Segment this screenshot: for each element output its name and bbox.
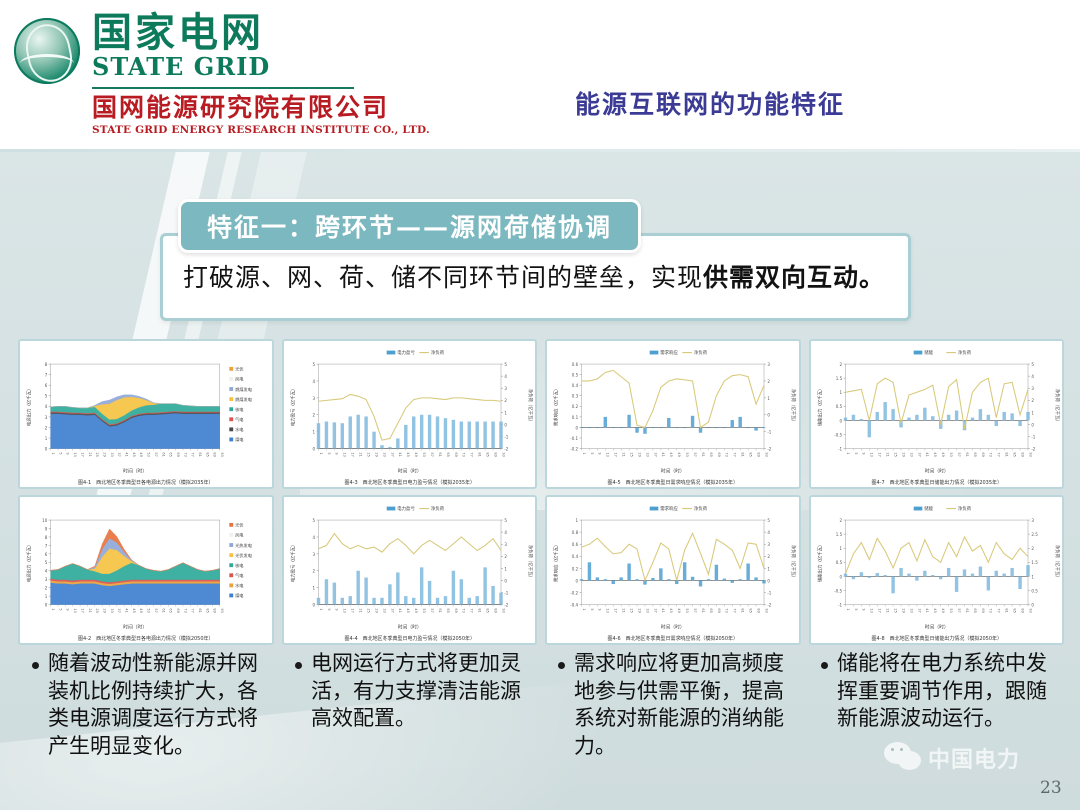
svg-text:1: 1 <box>839 390 842 395</box>
svg-text:5: 5 <box>45 394 48 399</box>
svg-text:33: 33 <box>645 608 649 612</box>
bullet-list: 随着波动性新能源并网装机比例持续扩大，各类电源调度运行方式将产生明显变化。 电网… <box>20 650 1068 800</box>
svg-text:0.3: 0.3 <box>572 394 579 399</box>
svg-text:9: 9 <box>861 452 865 454</box>
svg-text:29: 29 <box>374 608 378 612</box>
svg-text:煤电: 煤电 <box>235 592 244 599</box>
svg-text:73: 73 <box>461 452 465 456</box>
svg-text:69: 69 <box>717 608 721 612</box>
svg-text:73: 73 <box>461 608 465 612</box>
svg-text:2: 2 <box>767 554 770 559</box>
svg-text:49: 49 <box>677 452 681 456</box>
watermark-label: 中国电力 <box>928 742 1020 774</box>
svg-text:1: 1 <box>318 452 322 454</box>
svg-text:61: 61 <box>701 452 705 456</box>
svg-text:5: 5 <box>312 518 315 523</box>
svg-text:49: 49 <box>139 608 143 612</box>
svg-text:0: 0 <box>767 578 770 583</box>
svg-text:57: 57 <box>429 452 433 456</box>
svg-text:1: 1 <box>318 608 322 610</box>
svg-text:25: 25 <box>366 608 370 612</box>
svg-text:2.5: 2.5 <box>1031 532 1038 537</box>
feature-title-label: 特征一：跨环节——源网荷储协调 <box>207 208 612 244</box>
svg-text:53: 53 <box>147 608 151 612</box>
svg-text:49: 49 <box>414 608 418 612</box>
svg-text:89: 89 <box>756 452 760 456</box>
svg-text:21: 21 <box>88 452 92 456</box>
svg-text:37: 37 <box>917 608 921 612</box>
svg-text:69: 69 <box>717 452 721 456</box>
svg-text:29: 29 <box>901 608 905 612</box>
svg-text:3: 3 <box>504 542 507 547</box>
svg-text:2: 2 <box>504 554 507 559</box>
svg-text:21: 21 <box>885 452 889 456</box>
svg-text:净负荷: 净负荷 <box>957 505 971 512</box>
chart-svg: 012345-2-1012345电力盈亏净负荷15913172125293337… <box>284 497 536 643</box>
svg-text:1: 1 <box>45 594 48 599</box>
chart-svg: -0.2-0.100.10.20.30.40.50.6-2-10123需求响应净… <box>547 341 799 487</box>
svg-text:净负荷（亿千瓦）: 净负荷（亿千瓦） <box>1053 389 1060 424</box>
svg-text:时间（时）: 时间（时） <box>123 468 147 475</box>
svg-text:41: 41 <box>925 608 929 612</box>
svg-text:5: 5 <box>590 452 594 454</box>
svg-text:9: 9 <box>598 452 602 454</box>
svg-text:0: 0 <box>504 422 507 427</box>
svg-text:77: 77 <box>996 608 1000 612</box>
svg-text:37: 37 <box>117 608 121 612</box>
svg-text:气电: 气电 <box>235 416 244 422</box>
svg-text:-2: -2 <box>767 603 771 608</box>
svg-text:-1: -1 <box>1031 434 1035 439</box>
svg-text:1: 1 <box>767 396 770 401</box>
svg-text:85: 85 <box>485 452 489 456</box>
svg-text:61: 61 <box>437 452 441 456</box>
svg-text:3: 3 <box>312 552 315 557</box>
svg-text:73: 73 <box>988 452 992 456</box>
svg-text:2: 2 <box>839 518 842 523</box>
svg-text:57: 57 <box>693 452 697 456</box>
svg-text:0.6: 0.6 <box>572 542 579 547</box>
svg-text:81: 81 <box>1004 608 1008 612</box>
svg-text:0: 0 <box>1031 603 1034 608</box>
svg-text:61: 61 <box>701 608 705 612</box>
svg-text:1: 1 <box>51 452 55 454</box>
svg-text:3: 3 <box>1031 518 1034 523</box>
svg-text:25: 25 <box>629 608 633 612</box>
svg-text:5: 5 <box>58 608 62 610</box>
svg-text:1: 1 <box>312 430 315 435</box>
svg-text:4: 4 <box>45 404 48 409</box>
svg-text:33: 33 <box>382 608 386 612</box>
svg-text:净负荷（亿千瓦）: 净负荷（亿千瓦） <box>790 389 797 424</box>
svg-text:29: 29 <box>637 452 641 456</box>
chart-svg: -1-0.500.511.52-2-1012345储能净负荷1591317212… <box>811 341 1063 487</box>
svg-text:21: 21 <box>622 608 626 612</box>
svg-text:1: 1 <box>312 586 315 591</box>
svg-text:41: 41 <box>925 452 929 456</box>
svg-text:93: 93 <box>220 608 224 612</box>
chart-card-fig-4-8[interactable]: -1-0.500.511.5200.511.522.53储能净负荷1591317… <box>809 495 1065 645</box>
svg-text:0: 0 <box>576 425 579 430</box>
svg-text:57: 57 <box>693 608 697 612</box>
svg-text:13: 13 <box>869 608 873 612</box>
svg-text:0: 0 <box>576 578 579 583</box>
bullet-item: 随着波动性新能源并网装机比例持续扩大，各类电源调度运行方式将产生明显变化。 <box>20 650 279 800</box>
svg-text:0: 0 <box>839 418 842 423</box>
svg-text:5: 5 <box>590 608 594 610</box>
svg-text:29: 29 <box>102 452 106 456</box>
svg-text:61: 61 <box>161 608 165 612</box>
svg-text:45: 45 <box>132 608 136 612</box>
svg-text:53: 53 <box>685 608 689 612</box>
svg-text:13: 13 <box>342 608 346 612</box>
svg-text:93: 93 <box>1028 608 1032 612</box>
svg-text:时间（时）: 时间（时） <box>123 624 147 631</box>
svg-text:8: 8 <box>45 535 48 540</box>
svg-text:电力盈亏: 电力盈亏 <box>397 505 415 512</box>
svg-text:净负荷: 净负荷 <box>694 349 708 356</box>
svg-text:9: 9 <box>66 452 70 454</box>
svg-text:-0.4: -0.4 <box>570 603 578 608</box>
svg-text:电源出力（亿千瓦）: 电源出力（亿千瓦） <box>25 542 32 582</box>
svg-text:81: 81 <box>477 608 481 612</box>
svg-text:5: 5 <box>326 608 330 610</box>
svg-text:37: 37 <box>917 452 921 456</box>
svg-text:-0.5: -0.5 <box>834 588 842 593</box>
svg-text:需求响应（亿千瓦）: 需求响应（亿千瓦） <box>552 542 559 582</box>
svg-text:净负荷（亿千瓦）: 净负荷（亿千瓦） <box>526 545 533 580</box>
svg-text:21: 21 <box>358 608 362 612</box>
svg-text:49: 49 <box>414 452 418 456</box>
svg-text:69: 69 <box>980 608 984 612</box>
svg-text:煤电: 煤电 <box>235 436 244 443</box>
svg-text:41: 41 <box>661 452 665 456</box>
svg-text:65: 65 <box>445 452 449 456</box>
svg-text:89: 89 <box>756 608 760 612</box>
svg-text:1: 1 <box>767 566 770 571</box>
svg-text:65: 65 <box>972 452 976 456</box>
chart-card-fig-4-2[interactable]: 012345678910光伏风电光热发电光伏发电核电气电水电煤电15913172… <box>18 495 274 645</box>
svg-text:53: 53 <box>421 452 425 456</box>
svg-text:45: 45 <box>933 452 937 456</box>
svg-text:45: 45 <box>933 608 937 612</box>
svg-text:1: 1 <box>51 608 55 610</box>
svg-text:图4-4 西北地区冬季典型日电力盈亏情况（模拟2050年）: 图4-4 西北地区冬季典型日电力盈亏情况（模拟2050年） <box>344 635 474 642</box>
svg-text:5: 5 <box>312 362 315 367</box>
svg-text:29: 29 <box>374 452 378 456</box>
svg-text:图4-1 西北地区冬季典型日各电源出力情况（模拟2035年）: 图4-1 西北地区冬季典型日各电源出力情况（模拟2035年） <box>78 479 213 486</box>
svg-text:-2: -2 <box>504 447 508 452</box>
svg-text:需求响应: 需求响应 <box>660 349 678 356</box>
svg-text:9: 9 <box>66 608 70 610</box>
svg-text:89: 89 <box>213 608 217 612</box>
svg-text:41: 41 <box>125 452 129 456</box>
svg-text:85: 85 <box>205 608 209 612</box>
svg-text:53: 53 <box>421 608 425 612</box>
svg-text:0.1: 0.1 <box>572 415 579 420</box>
svg-text:41: 41 <box>125 608 129 612</box>
svg-text:9: 9 <box>598 608 602 610</box>
svg-text:25: 25 <box>366 452 370 456</box>
svg-text:2: 2 <box>312 569 315 574</box>
svg-text:0.4: 0.4 <box>572 383 579 388</box>
svg-text:9: 9 <box>334 608 338 610</box>
svg-text:57: 57 <box>429 608 433 612</box>
chart-svg: -0.4-0.200.20.40.60.81-2-1012345需求响应净负荷1… <box>547 497 799 643</box>
brand-name-cn: 国家电网 <box>92 12 430 54</box>
svg-text:-1: -1 <box>767 590 771 595</box>
svg-text:4: 4 <box>504 530 507 535</box>
svg-text:85: 85 <box>1012 608 1016 612</box>
svg-text:2: 2 <box>767 379 770 384</box>
chart-card-fig-4-7[interactable]: -1-0.500.511.52-2-1012345储能净负荷1591317212… <box>809 339 1065 489</box>
svg-text:89: 89 <box>493 452 497 456</box>
svg-text:图4-8 西北地区冬季典型日储能出力情况（模拟2050年）: 图4-8 西北地区冬季典型日储能出力情况（模拟2050年） <box>871 635 1001 642</box>
svg-text:33: 33 <box>909 608 913 612</box>
svg-text:6: 6 <box>45 383 48 388</box>
svg-text:37: 37 <box>117 452 121 456</box>
svg-text:0: 0 <box>312 447 315 452</box>
institute-name-en: STATE GRID ENERGY RESEARCH INSTITUTE CO.… <box>92 124 430 136</box>
svg-text:93: 93 <box>220 452 224 456</box>
svg-text:光伏: 光伏 <box>235 522 244 529</box>
svg-text:5: 5 <box>504 518 507 523</box>
svg-text:61: 61 <box>964 452 968 456</box>
svg-text:2: 2 <box>45 425 48 430</box>
svg-text:37: 37 <box>653 452 657 456</box>
svg-text:65: 65 <box>169 608 173 612</box>
svg-text:33: 33 <box>909 452 913 456</box>
svg-text:81: 81 <box>741 608 745 612</box>
svg-text:6: 6 <box>45 552 48 557</box>
brand-logo-block: 国家电网 STATE GRID 国网能源研究院有限公司 STATE GRID E… <box>14 12 430 136</box>
svg-text:69: 69 <box>176 452 180 456</box>
svg-text:净负荷: 净负荷 <box>957 349 971 356</box>
svg-text:45: 45 <box>132 452 136 456</box>
brand-divider <box>92 87 354 89</box>
svg-text:33: 33 <box>110 608 114 612</box>
svg-text:需求响应: 需求响应 <box>660 505 678 512</box>
svg-text:1: 1 <box>1031 410 1034 415</box>
svg-text:25: 25 <box>95 608 99 612</box>
svg-text:33: 33 <box>645 452 649 456</box>
bullet-dot-icon <box>295 662 302 669</box>
svg-text:光热发电: 光热发电 <box>235 542 253 549</box>
svg-text:7: 7 <box>45 373 48 378</box>
svg-text:0: 0 <box>45 447 48 452</box>
svg-text:2: 2 <box>312 413 315 418</box>
svg-text:需求响应（亿千瓦）: 需求响应（亿千瓦） <box>552 386 559 426</box>
svg-text:1: 1 <box>582 452 586 454</box>
svg-text:17: 17 <box>350 452 354 456</box>
bullet-item: 需求响应将更加高频度地参与供需平衡，提高系统对新能源的消纳能力。 <box>546 650 805 800</box>
brand-name-en: STATE GRID <box>92 52 430 81</box>
svg-text:电力盈亏（亿千瓦）: 电力盈亏（亿千瓦） <box>289 386 296 426</box>
bullet-item: 电网运行方式将更加灵活，有力支撑清洁能源高效配置。 <box>283 650 542 800</box>
svg-text:49: 49 <box>677 608 681 612</box>
svg-text:53: 53 <box>147 452 151 456</box>
svg-text:净负荷: 净负荷 <box>430 505 444 512</box>
bullet-dot-icon <box>558 662 565 669</box>
svg-text:3: 3 <box>504 386 507 391</box>
svg-text:0.2: 0.2 <box>572 404 579 409</box>
bullet-dot-icon <box>821 662 828 669</box>
svg-text:5: 5 <box>326 452 330 454</box>
svg-text:5: 5 <box>58 452 62 454</box>
svg-text:13: 13 <box>342 452 346 456</box>
chart-card-fig-4-5[interactable]: -0.2-0.100.10.20.30.40.50.6-2-10123需求响应净… <box>545 339 801 489</box>
svg-text:10: 10 <box>42 518 48 523</box>
svg-text:49: 49 <box>941 608 945 612</box>
svg-text:85: 85 <box>748 452 752 456</box>
chart-card-fig-4-1[interactable]: 012345678光伏风电燃煤发电燃煤发电核电气电水电煤电15913172125… <box>18 339 274 489</box>
svg-text:0.6: 0.6 <box>572 362 579 367</box>
svg-text:储能出力（亿千瓦）: 储能出力（亿千瓦） <box>816 542 823 582</box>
svg-text:9: 9 <box>861 608 865 610</box>
svg-text:0.4: 0.4 <box>572 554 579 559</box>
svg-text:图4-7 西北地区冬季典型日储能出力情况（模拟2035年）: 图4-7 西北地区冬季典型日储能出力情况（模拟2035年） <box>871 479 1001 486</box>
wechat-icon <box>884 742 922 774</box>
wechat-watermark: 中国电力 <box>884 742 1020 774</box>
svg-text:21: 21 <box>88 608 92 612</box>
svg-text:净负荷: 净负荷 <box>430 349 444 356</box>
svg-text:电力盈亏: 电力盈亏 <box>397 349 415 356</box>
bullet-text: 需求响应将更加高频度地参与供需平衡，提高系统对新能源的消纳能力。 <box>574 650 799 761</box>
feature-title-pill: 特征一：跨环节——源网荷储协调 <box>178 199 641 253</box>
svg-text:17: 17 <box>614 608 618 612</box>
svg-text:29: 29 <box>901 452 905 456</box>
svg-text:净负荷（亿千瓦）: 净负荷（亿千瓦） <box>526 389 533 424</box>
chart-card-fig-4-4[interactable]: 012345-2-1012345电力盈亏净负荷15913172125293337… <box>282 495 538 645</box>
svg-text:9: 9 <box>334 452 338 454</box>
svg-text:69: 69 <box>453 608 457 612</box>
svg-text:93: 93 <box>1028 452 1032 456</box>
svg-text:37: 37 <box>653 608 657 612</box>
svg-text:0: 0 <box>839 574 842 579</box>
svg-text:85: 85 <box>748 608 752 612</box>
svg-text:时间（时）: 时间（时） <box>661 468 685 475</box>
svg-text:73: 73 <box>183 452 187 456</box>
svg-text:89: 89 <box>1020 608 1024 612</box>
svg-text:93: 93 <box>764 608 768 612</box>
svg-text:61: 61 <box>964 608 968 612</box>
svg-text:光伏发电: 光伏发电 <box>235 552 253 559</box>
svg-text:图4-3 西北地区冬季典型日电力盈亏情况（模拟2035年）: 图4-3 西北地区冬季典型日电力盈亏情况（模拟2035年） <box>344 479 474 486</box>
slide-header: 国家电网 STATE GRID 国网能源研究院有限公司 STATE GRID E… <box>0 0 1080 152</box>
svg-text:2: 2 <box>45 586 48 591</box>
chart-card-fig-4-6[interactable]: -0.4-0.200.20.40.60.81-2-1012345需求响应净负荷1… <box>545 495 801 645</box>
bullet-text: 储能将在电力系统中发挥重要调节作用，跟随新能源波动运行。 <box>837 650 1062 733</box>
svg-text:53: 53 <box>685 452 689 456</box>
svg-text:37: 37 <box>390 608 394 612</box>
svg-text:1.5: 1.5 <box>835 532 842 537</box>
page-title: 能源互联网的功能特征 <box>575 85 845 121</box>
bullet-item: 储能将在电力系统中发挥重要调节作用，跟随新能源波动运行。 <box>809 650 1068 800</box>
svg-text:93: 93 <box>764 452 768 456</box>
svg-text:时间（时）: 时间（时） <box>924 624 948 631</box>
svg-text:电力盈亏（亿千瓦）: 电力盈亏（亿千瓦） <box>289 542 296 582</box>
svg-text:0.5: 0.5 <box>835 404 842 409</box>
institute-name-cn: 国网能源研究院有限公司 <box>92 94 430 122</box>
svg-text:85: 85 <box>485 608 489 612</box>
svg-text:33: 33 <box>382 452 386 456</box>
svg-text:77: 77 <box>191 608 195 612</box>
svg-text:85: 85 <box>205 452 209 456</box>
svg-text:3: 3 <box>45 415 48 420</box>
svg-text:-0.5: -0.5 <box>834 432 842 437</box>
svg-text:风电: 风电 <box>235 376 244 383</box>
svg-text:2: 2 <box>504 398 507 403</box>
svg-text:4: 4 <box>504 374 507 379</box>
svg-text:-0.2: -0.2 <box>570 447 578 452</box>
svg-text:29: 29 <box>637 608 641 612</box>
svg-text:1: 1 <box>1031 574 1034 579</box>
svg-text:图4-6 西北地区冬季典型日需求响应情况（模拟2050年）: 图4-6 西北地区冬季典型日需求响应情况（模拟2050年） <box>608 635 738 642</box>
svg-text:5: 5 <box>1031 362 1034 367</box>
svg-text:65: 65 <box>169 452 173 456</box>
svg-text:0.2: 0.2 <box>572 566 579 571</box>
svg-text:13: 13 <box>73 452 77 456</box>
svg-text:-0.1: -0.1 <box>570 436 578 441</box>
svg-text:81: 81 <box>198 608 202 612</box>
svg-text:57: 57 <box>956 608 960 612</box>
svg-text:17: 17 <box>80 452 84 456</box>
svg-text:光伏: 光伏 <box>235 366 244 373</box>
svg-text:25: 25 <box>893 452 897 456</box>
svg-text:17: 17 <box>614 452 618 456</box>
chart-card-fig-4-3[interactable]: 012345-2-1012345电力盈亏净负荷15913172125293337… <box>282 339 538 489</box>
svg-text:81: 81 <box>741 452 745 456</box>
feature-statement: 打破源、网、荷、储不同环节间的壁垒，实现供需双向互动。 <box>183 258 885 294</box>
svg-text:0.5: 0.5 <box>572 373 579 378</box>
chart-svg: -1-0.500.511.5200.511.522.53储能净负荷1591317… <box>811 497 1063 643</box>
bullet-text: 随着波动性新能源并网装机比例持续扩大，各类电源调度运行方式将产生明显变化。 <box>48 650 273 761</box>
svg-text:17: 17 <box>877 608 881 612</box>
svg-text:45: 45 <box>669 608 673 612</box>
svg-text:1.5: 1.5 <box>1031 560 1038 565</box>
svg-text:储能: 储能 <box>924 349 933 356</box>
svg-text:41: 41 <box>398 608 402 612</box>
svg-text:61: 61 <box>437 608 441 612</box>
svg-text:-1: -1 <box>838 447 842 452</box>
svg-text:储能出力（亿千瓦）: 储能出力（亿千瓦） <box>816 386 823 426</box>
svg-text:4: 4 <box>312 379 315 384</box>
svg-text:5: 5 <box>45 560 48 565</box>
svg-text:69: 69 <box>980 452 984 456</box>
svg-text:净负荷: 净负荷 <box>694 505 708 512</box>
feature-statement-bold: 供需双向互动。 <box>703 263 885 292</box>
svg-text:4: 4 <box>312 535 315 540</box>
svg-text:65: 65 <box>972 608 976 612</box>
svg-text:41: 41 <box>398 452 402 456</box>
svg-text:0: 0 <box>1031 422 1034 427</box>
svg-text:3: 3 <box>767 362 770 367</box>
svg-text:93: 93 <box>501 608 505 612</box>
svg-text:1: 1 <box>576 518 579 523</box>
svg-text:81: 81 <box>1004 452 1008 456</box>
svg-text:65: 65 <box>445 608 449 612</box>
svg-text:73: 73 <box>183 608 187 612</box>
svg-text:21: 21 <box>885 608 889 612</box>
svg-text:69: 69 <box>176 608 180 612</box>
svg-text:77: 77 <box>733 608 737 612</box>
svg-text:燃煤发电: 燃煤发电 <box>235 396 253 403</box>
svg-text:25: 25 <box>95 452 99 456</box>
svg-text:-2: -2 <box>504 603 508 608</box>
bullet-text: 电网运行方式将更加灵活，有力支撑清洁能源高效配置。 <box>311 650 536 733</box>
svg-text:73: 73 <box>725 608 729 612</box>
svg-text:净负荷（亿千瓦）: 净负荷（亿千瓦） <box>1053 545 1060 580</box>
